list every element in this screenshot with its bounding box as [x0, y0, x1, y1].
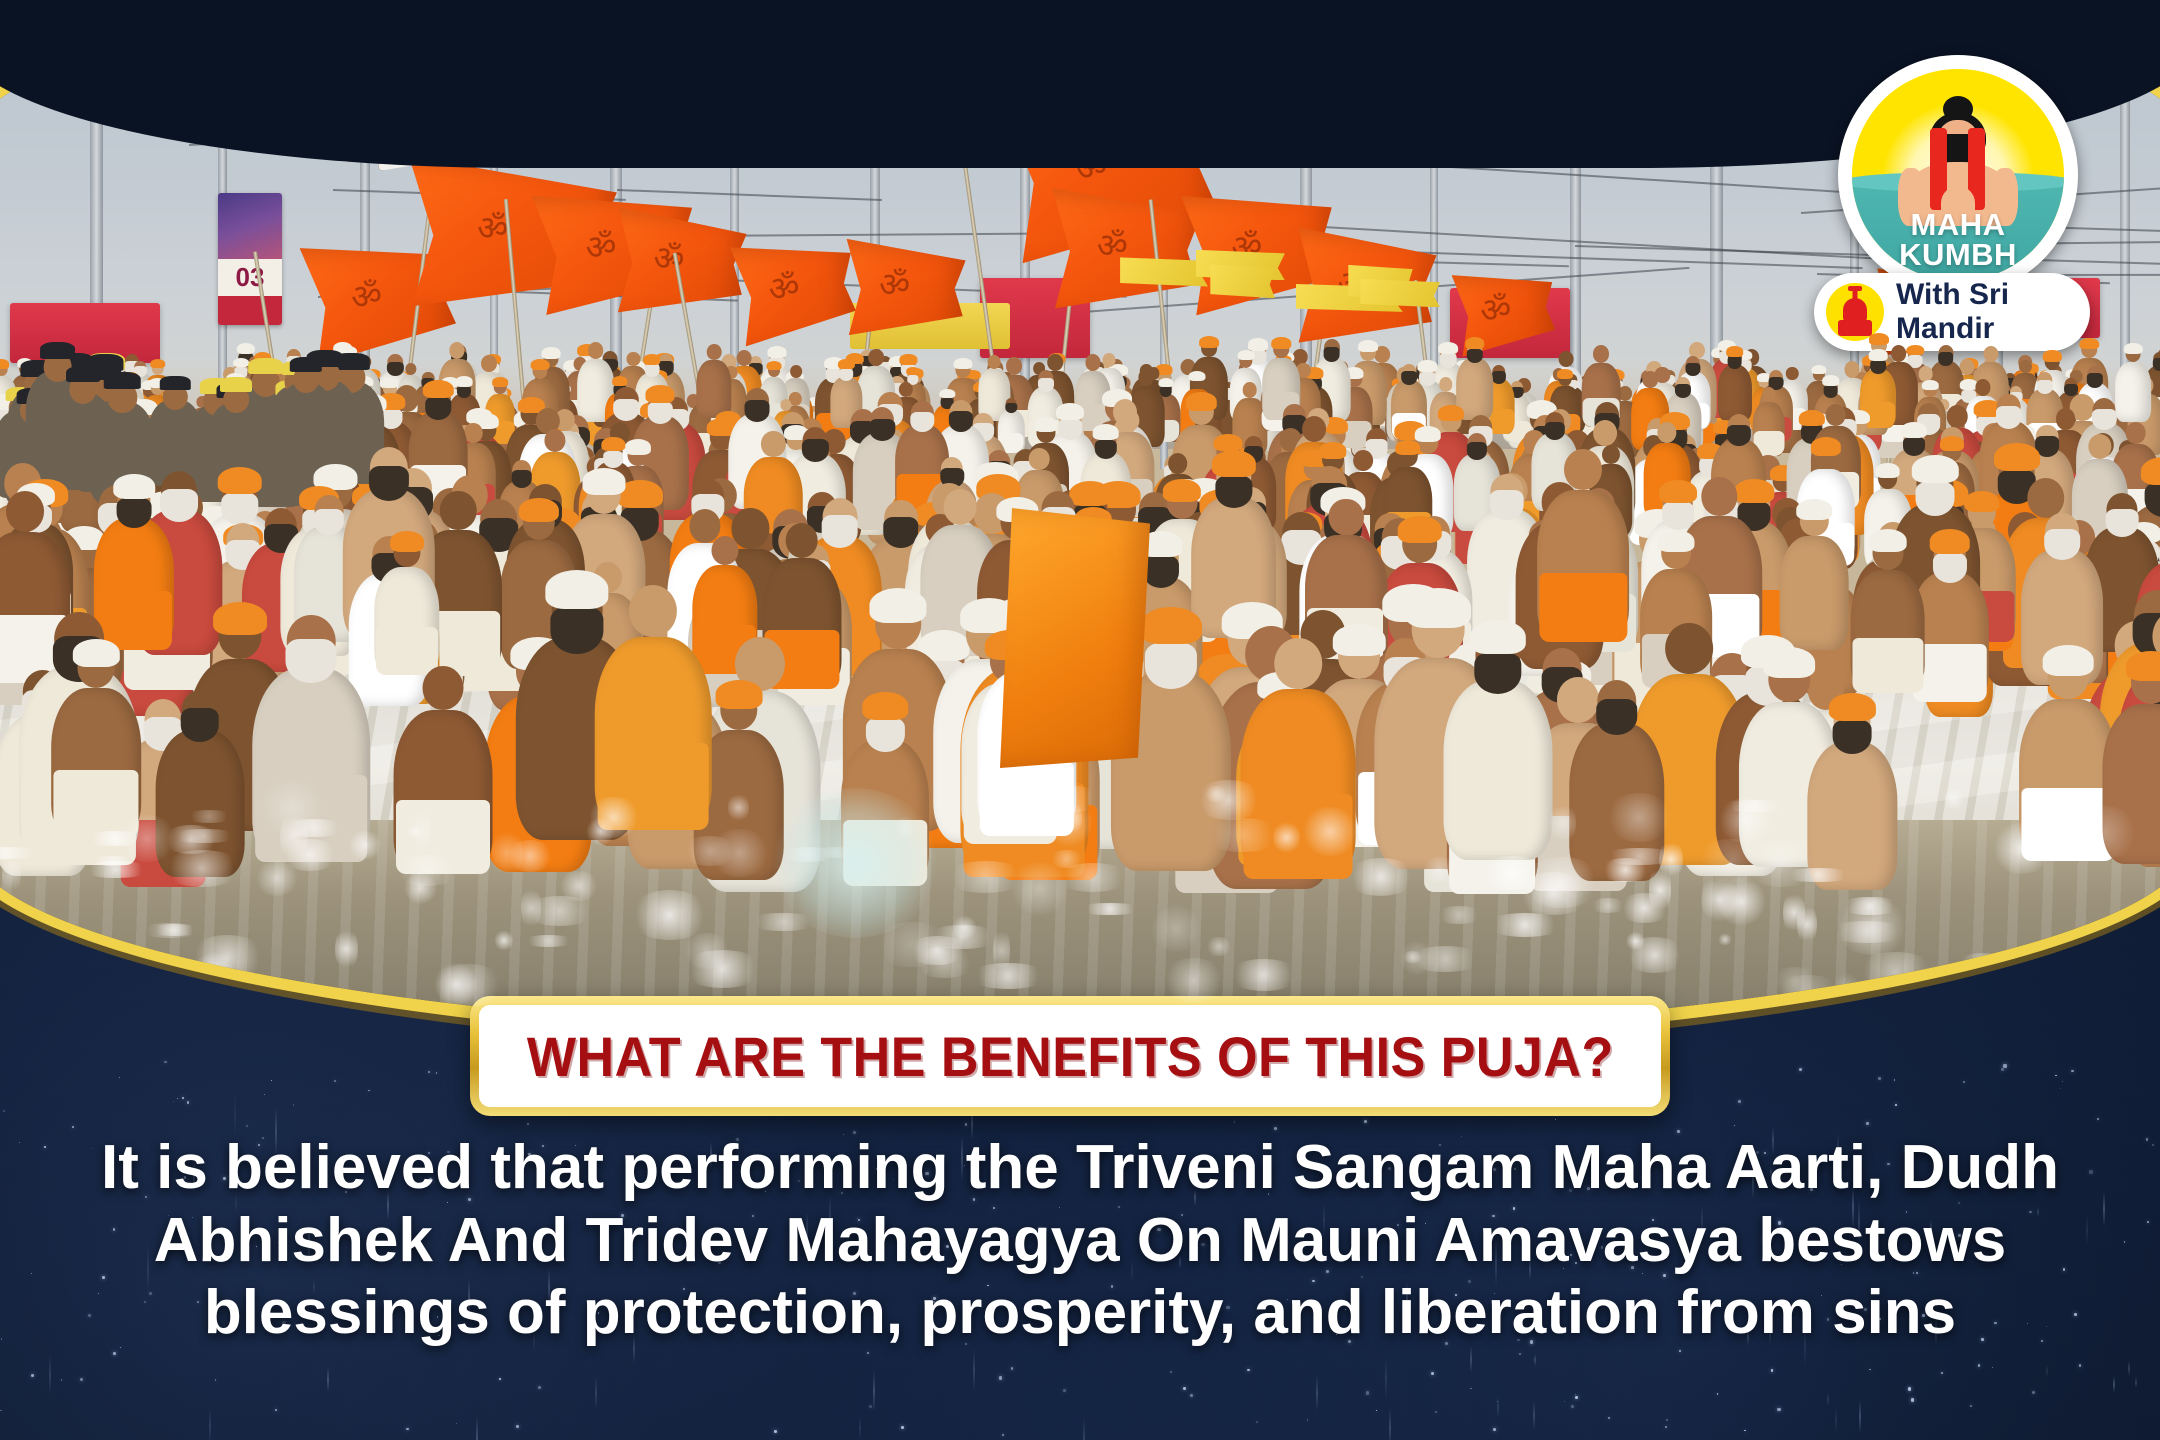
logo-name: MAHA KUMBH [1852, 210, 2064, 269]
benefits-paragraph: It is believed that performing the Trive… [55, 1132, 2105, 1350]
sri-mandir-badge[interactable]: With Sri Mandir [1814, 273, 2090, 351]
maha-kumbh-logo[interactable]: MAHA KUMBH With Sri Mandir [1838, 55, 2078, 355]
sign-number: 03 [218, 259, 282, 296]
logo-name-line2: KUMBH [1852, 240, 2064, 269]
logo-artwork: MAHA KUMBH [1852, 69, 2064, 281]
top-arc-mask [0, 0, 2160, 168]
logo-name-line1: MAHA [1852, 210, 2064, 239]
sri-mandir-label: With Sri Mandir [1896, 278, 2090, 346]
logo-circle: MAHA KUMBH [1838, 55, 2078, 295]
benefits-title-banner: WHAT ARE THE BENEFITS OF THIS PUJA? [470, 996, 1670, 1116]
banner-sign-03: 03 [218, 193, 282, 325]
page-title: WHAT ARE THE BENEFITS OF THIS PUJA? [527, 1024, 1614, 1089]
poster-root: 03 [0, 0, 2160, 1440]
